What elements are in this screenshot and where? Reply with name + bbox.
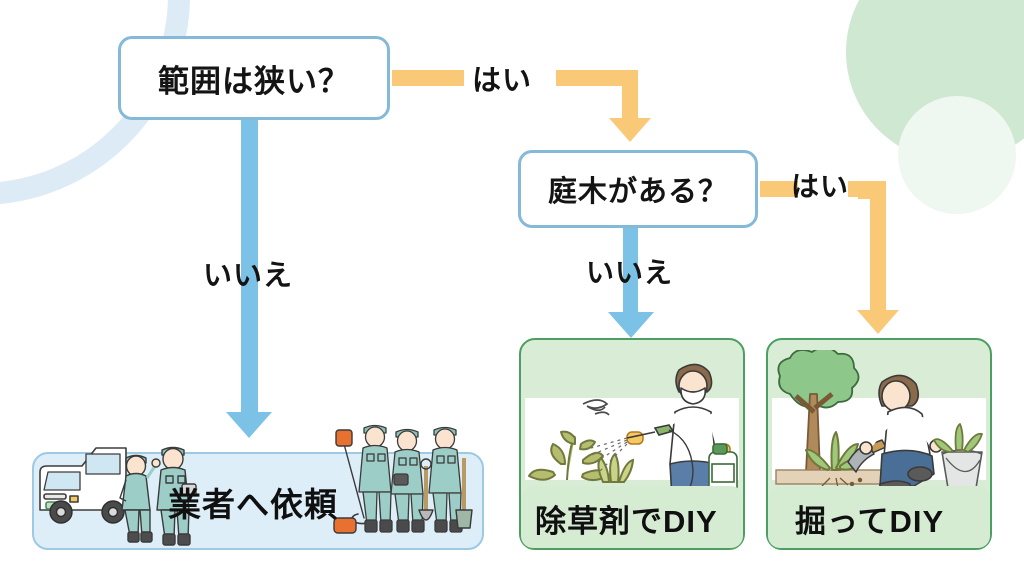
three-workers-with-tools-illustration [330,414,490,550]
arrowhead-down-icon [857,310,899,334]
arrow-shaft-left [392,70,464,86]
decision-node-trees-label: 庭木がある？ [548,168,728,210]
flowchart-canvas: 範囲は狭い？ 庭木がある？ はい いいえ はい いいえ [0,0,1024,572]
edge-label-scope-no: いいえ [203,252,293,294]
arrowhead-down-icon [226,412,272,438]
edge-label-scope-yes: はい [472,57,532,99]
decoration-right-faint-green-circle [898,96,1016,214]
arrowhead-down-icon [608,312,654,338]
person-spraying-herbicide-illustration [523,352,743,500]
person-digging-weeds-illustration [770,350,990,500]
arrow-shaft-vertical [870,181,886,321]
decision-node-scope-label: 範囲は狭い？ [158,56,350,101]
result-node-dig-label: 掘ってDIY [795,496,944,541]
result-node-herbicide-label: 除草剤でDIY [535,496,718,541]
decision-node-trees[interactable]: 庭木がある？ [518,150,758,228]
decision-node-scope[interactable]: 範囲は狭い？ [118,36,390,120]
edge-label-trees-yes: はい [791,165,849,205]
edge-label-trees-no: いいえ [586,251,673,291]
arrowhead-down-icon [609,118,651,142]
result-node-contractor-label: 業者へ依頼 [168,478,338,526]
